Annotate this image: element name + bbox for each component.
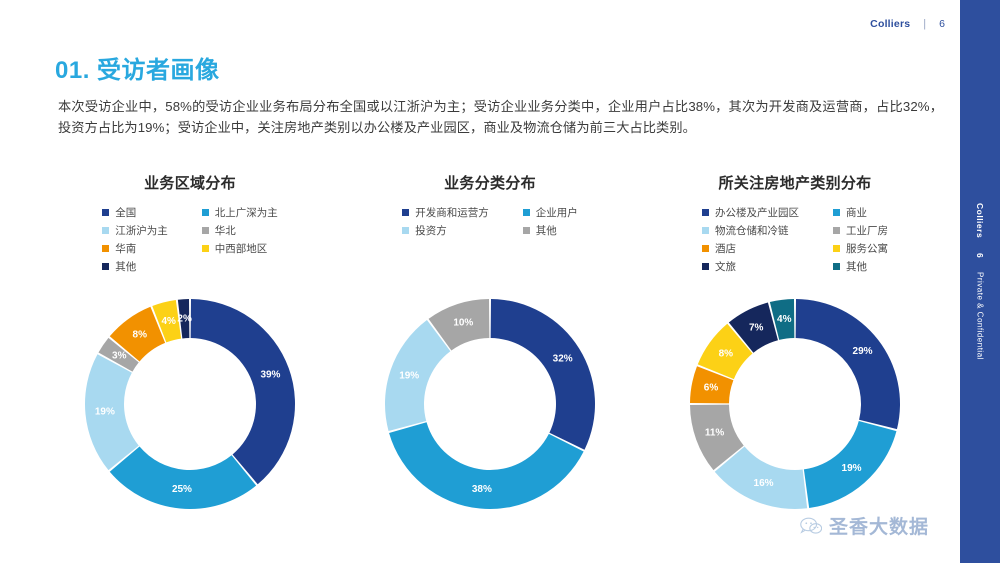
donut-svg: 29%19%16%11%6%8%7%4% — [675, 284, 915, 524]
legend-swatch-icon — [833, 209, 840, 216]
legend-label: 酒店 — [715, 241, 736, 256]
legend-item[interactable]: 华南 — [102, 241, 168, 256]
header-separator: | — [923, 18, 926, 30]
legend-swatch-icon — [833, 245, 840, 252]
legend-label: 其他 — [115, 259, 136, 274]
legend-item[interactable]: 北上广深为主 — [202, 205, 278, 220]
legend-item[interactable]: 江浙沪为主 — [102, 223, 168, 238]
chart-legend: 办公楼及产业园区 物流仓储和冷链 酒店 文旅 商业 工业厂房 服务公寓 其他 — [702, 205, 888, 274]
chart-title: 业务分类分布 — [444, 172, 536, 193]
rail-brand: Colliers — [975, 203, 985, 238]
legend-label: 物流仓储和冷链 — [715, 223, 789, 238]
chart-business-type: 业务分类分布 开发商和运营方 投资方 企业用户 其他 32%38%19%10% — [340, 172, 640, 542]
legend-swatch-icon — [402, 209, 409, 216]
legend-swatch-icon — [833, 263, 840, 270]
charts-row: 业务区域分布 全国 江浙沪为主 华南 其他 北上广深为主 华北 中西部地区 39… — [40, 172, 950, 542]
legend-swatch-icon — [523, 209, 530, 216]
slice-label: 32% — [553, 354, 573, 365]
page-title: 01. 受访者画像 — [55, 50, 220, 85]
chart-property-type: 所关注房地产类别分布 办公楼及产业园区 物流仓储和冷链 酒店 文旅 商业 工业厂… — [640, 172, 950, 542]
legend-swatch-icon — [102, 227, 109, 234]
legend-label: 文旅 — [715, 259, 736, 274]
legend-label: 办公楼及产业园区 — [715, 205, 799, 220]
donut-chart[interactable]: 29%19%16%11%6%8%7%4% — [675, 284, 915, 524]
donut-slice[interactable] — [191, 299, 295, 484]
slice-label: 29% — [853, 346, 873, 357]
legend-swatch-icon — [702, 245, 709, 252]
slice-label: 16% — [754, 478, 774, 489]
legend-label: 其他 — [536, 223, 557, 238]
legend-swatch-icon — [523, 227, 530, 234]
slice-label: 10% — [453, 317, 473, 328]
slice-label: 39% — [260, 370, 280, 381]
rail-page-number: 6 — [975, 253, 985, 258]
legend-swatch-icon — [702, 263, 709, 270]
legend-item[interactable]: 开发商和运营方 — [402, 205, 489, 220]
chart-legend: 全国 江浙沪为主 华南 其他 北上广深为主 华北 中西部地区 — [102, 205, 278, 274]
legend-swatch-icon — [702, 209, 709, 216]
donut-chart[interactable]: 39%25%19%3%8%4%2% — [70, 284, 310, 524]
rail-confidential: Private & Confidential — [976, 272, 985, 360]
legend-swatch-icon — [202, 209, 209, 216]
legend-item[interactable]: 商业 — [833, 205, 888, 220]
donut-slice[interactable] — [389, 422, 584, 509]
slice-label: 19% — [95, 407, 115, 418]
donut-slice[interactable] — [796, 299, 900, 429]
legend-item[interactable]: 文旅 — [702, 259, 799, 274]
legend-item[interactable]: 投资方 — [402, 223, 489, 238]
chart-title: 业务区域分布 — [144, 172, 236, 193]
slice-label: 38% — [472, 484, 492, 495]
slice-label: 8% — [719, 348, 734, 359]
donut-slice[interactable] — [491, 299, 595, 450]
legend-item[interactable]: 办公楼及产业园区 — [702, 205, 799, 220]
legend-label: 工业厂房 — [846, 223, 888, 238]
chart-legend: 开发商和运营方 投资方 企业用户 其他 — [402, 205, 578, 238]
slice-label: 7% — [749, 322, 764, 333]
legend-swatch-icon — [402, 227, 409, 234]
legend-label: 北上广深为主 — [215, 205, 278, 220]
legend-item[interactable]: 服务公寓 — [833, 241, 888, 256]
legend-swatch-icon — [102, 209, 109, 216]
slice-label: 19% — [842, 463, 862, 474]
slice-label: 4% — [162, 316, 177, 327]
legend-item[interactable]: 工业厂房 — [833, 223, 888, 238]
legend-label: 企业用户 — [536, 205, 578, 220]
legend-item[interactable]: 全国 — [102, 205, 168, 220]
legend-label: 华北 — [215, 223, 236, 238]
legend-swatch-icon — [833, 227, 840, 234]
legend-item[interactable]: 其他 — [833, 259, 888, 274]
legend-swatch-icon — [202, 245, 209, 252]
legend-swatch-icon — [202, 227, 209, 234]
donut-svg: 39%25%19%3%8%4%2% — [70, 284, 310, 524]
legend-item[interactable]: 企业用户 — [523, 205, 578, 220]
legend-label: 商业 — [846, 205, 867, 220]
legend-label: 投资方 — [415, 223, 447, 238]
header-brand: Colliers — [870, 18, 910, 30]
slice-label: 6% — [704, 383, 719, 394]
legend-item[interactable]: 中西部地区 — [202, 241, 278, 256]
chart-title: 所关注房地产类别分布 — [718, 172, 871, 193]
slice-label: 2% — [177, 313, 192, 324]
legend-swatch-icon — [702, 227, 709, 234]
legend-item[interactable]: 其他 — [523, 223, 578, 238]
slice-label: 19% — [399, 371, 419, 382]
donut-svg: 32%38%19%10% — [370, 284, 610, 524]
slice-label: 4% — [777, 314, 792, 325]
legend-label: 全国 — [115, 205, 136, 220]
legend-item[interactable]: 物流仓储和冷链 — [702, 223, 799, 238]
legend-item[interactable]: 其他 — [102, 259, 168, 274]
header: Colliers | 6 — [870, 18, 945, 30]
slice-label: 8% — [133, 329, 148, 340]
legend-item-spacer — [202, 259, 278, 274]
legend-label: 开发商和运营方 — [415, 205, 489, 220]
chart-business-region: 业务区域分布 全国 江浙沪为主 华南 其他 北上广深为主 华北 中西部地区 39… — [40, 172, 340, 542]
legend-swatch-icon — [102, 245, 109, 252]
legend-label: 华南 — [115, 241, 136, 256]
legend-label: 江浙沪为主 — [115, 223, 168, 238]
legend-item[interactable]: 华北 — [202, 223, 278, 238]
donut-chart[interactable]: 32%38%19%10% — [370, 284, 610, 524]
summary-paragraph: 本次受访企业中，58%的受访企业业务布局分布全国或以江浙沪为主；受访企业业务分类… — [58, 96, 943, 139]
legend-label: 服务公寓 — [846, 241, 888, 256]
legend-swatch-icon — [102, 263, 109, 270]
slice-label: 11% — [705, 428, 725, 439]
legend-label: 其他 — [846, 259, 867, 274]
slice-label: 3% — [112, 351, 127, 362]
right-rail-content: Colliers 6 Private & Confidential — [960, 0, 1000, 563]
slice-label: 25% — [172, 484, 192, 495]
legend-item[interactable]: 酒店 — [702, 241, 799, 256]
slide-page: Colliers | 6 01. 受访者画像 本次受访企业中，58%的受访企业业… — [0, 0, 1000, 563]
legend-label: 中西部地区 — [215, 241, 268, 256]
header-page-number: 6 — [939, 18, 945, 30]
